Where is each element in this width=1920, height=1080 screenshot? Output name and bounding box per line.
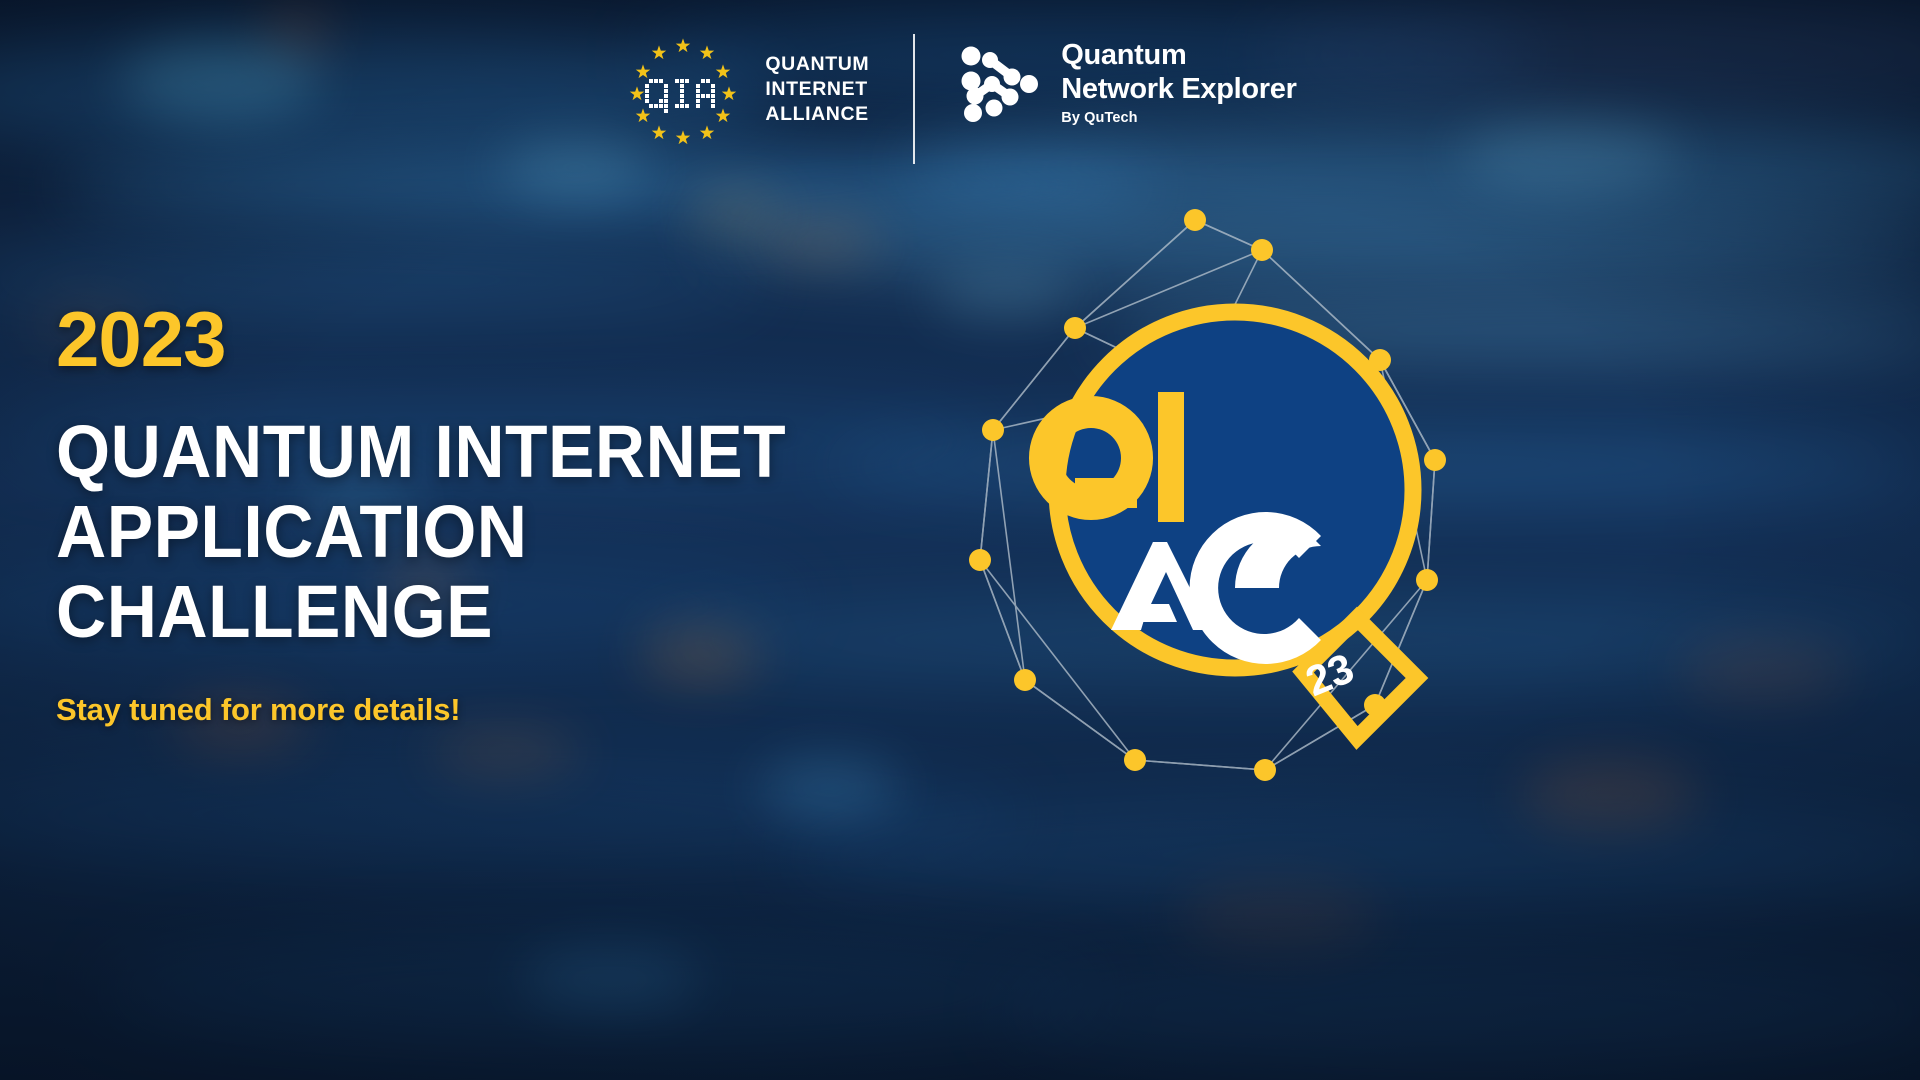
qia-name-line3: ALLIANCE: [765, 102, 869, 127]
qia-dot-matrix-letters: [645, 79, 715, 113]
header-divider: [913, 34, 915, 164]
qne-name-line1: Quantum: [1061, 38, 1296, 72]
title-line-2: APPLICATION CHALLENGE: [56, 492, 958, 652]
quantum-network-nodes-icon: [959, 34, 1041, 131]
qiac-badge-cluster: 23: [905, 160, 1565, 820]
qia-name-line1: QUANTUM: [765, 52, 869, 77]
qia-name: QUANTUM INTERNET ALLIANCE: [765, 52, 869, 127]
qia-name-line2: INTERNET: [765, 77, 869, 102]
header-logos: QUANTUM INTERNET ALLIANCE: [0, 34, 1920, 164]
qne-logo[interactable]: Quantum Network Explorer By QuTech: [959, 34, 1296, 131]
qiac-badge: 23: [1029, 312, 1417, 738]
page-title: QUANTUM INTERNET APPLICATION CHALLENGE: [56, 412, 1016, 652]
promo-banner: QUANTUM INTERNET ALLIANCE: [0, 0, 1920, 1080]
tagline: Stay tuned for more details!: [56, 692, 1016, 728]
qne-byline: By QuTech: [1061, 110, 1296, 127]
event-year: 2023: [56, 300, 1016, 378]
main-copy: 2023 QUANTUM INTERNET APPLICATION CHALLE…: [56, 300, 1016, 728]
eu-stars-circle-icon: [623, 34, 743, 144]
qne-name: Quantum Network Explorer By QuTech: [1061, 38, 1296, 127]
title-line-1: QUANTUM INTERNET: [56, 412, 958, 492]
qia-logo[interactable]: QUANTUM INTERNET ALLIANCE: [623, 34, 869, 144]
qne-name-line2: Network Explorer: [1061, 72, 1296, 106]
